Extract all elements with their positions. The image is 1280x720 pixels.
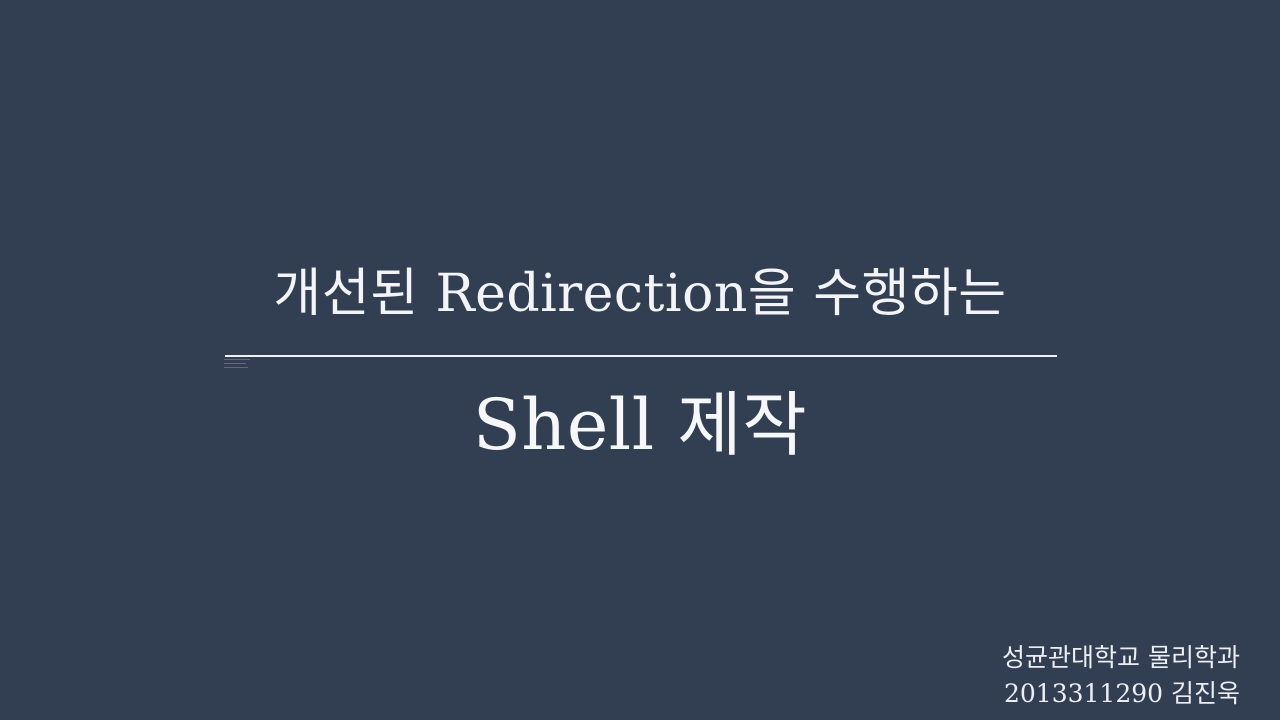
title-slide: 개선된 Redirection을 수행하는 Shell 제작 성균관대학교 물리… (0, 0, 1280, 720)
title-divider-rule (225, 355, 1057, 357)
divider-artifact-stroke (224, 367, 248, 368)
footer-author: 2013311290 김진욱 (1002, 676, 1240, 712)
title-block: 개선된 Redirection을 수행하는 Shell 제작 (0, 0, 1280, 720)
divider-artifact-marks (224, 359, 250, 370)
title-line-secondary: Shell 제작 (0, 382, 1280, 468)
title-line-primary: 개선된 Redirection을 수행하는 (0, 262, 1280, 326)
divider-artifact-stroke (224, 359, 250, 360)
footer-affiliation: 성균관대학교 물리학과 (1002, 640, 1240, 676)
author-footer: 성균관대학교 물리학과 2013311290 김진욱 (1002, 640, 1240, 712)
divider-artifact-stroke (224, 363, 246, 364)
